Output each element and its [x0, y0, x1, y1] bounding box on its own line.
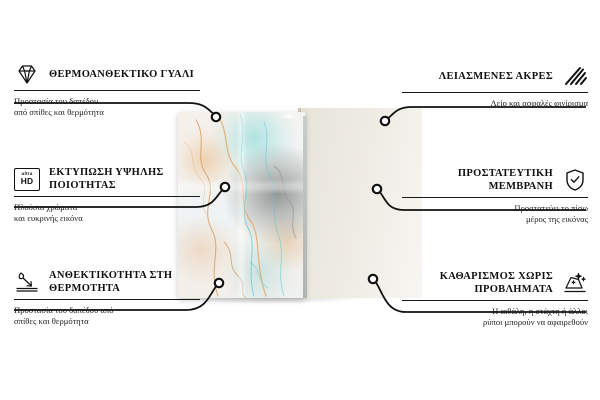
feature-easy-cleaning: ΚΑΘΑΡΙΣΜΟΣ ΧΩΡΙΣ ΠΡΟΒΛΗΜΑΤΑ Η αιθάλη, η …: [402, 270, 588, 328]
feature-header: ΑΝΘΕΚΤΙΚΟΤΗΤΑ ΣΤΗ ΘΕΡΜΟΤΗΤΑ: [14, 269, 200, 295]
feature-title: ΠΡΟΣΤΑΤΕΥΤΙΚΗ ΜΕΜΒΡΑΝΗ: [402, 167, 553, 193]
feature-description: Λείο και ασφαλές φινίρισμα: [402, 98, 588, 109]
feature-high-quality-print: ultra HD ΕΚΤΥΠΩΣΗ ΥΨΗΛΗΣ ΠΟΙΟΤΗΤΑΣ Πλούσ…: [14, 166, 200, 224]
feature-rule: [14, 196, 200, 197]
feature-description: Προστασία του δαπέδουαπό σπίθες και θερμ…: [14, 96, 200, 118]
feature-heat-durability: ΑΝΘΕΚΤΙΚΟΤΗΤΑ ΣΤΗ ΘΕΡΜΟΤΗΤΑ Προστασία το…: [14, 269, 200, 327]
ultra-hd-icon: ultra HD: [14, 167, 40, 191]
feature-title: ΕΚΤΥΠΩΣΗ ΥΨΗΛΗΣ ΠΟΙΟΤΗΤΑΣ: [49, 166, 200, 192]
highlight-glare: [274, 108, 304, 118]
feature-header: ΘΕΡΜΟΑΝΘΕΚΤΙΚΟ ΓΥΑΛΙ: [14, 62, 200, 86]
flame-on-surface-icon: [14, 270, 40, 294]
polished-edges-icon: [562, 64, 588, 88]
feature-rule: [14, 299, 200, 300]
shield-check-icon: [562, 168, 588, 192]
feature-header: ΠΡΟΣΤΑΤΕΥΤΙΚΗ ΜΕΜΒΡΑΝΗ: [402, 167, 588, 193]
sparkle-cloth-icon: [562, 271, 588, 295]
feature-rule: [402, 197, 588, 198]
feature-header: ultra HD ΕΚΤΥΠΩΣΗ ΥΨΗΛΗΣ ΠΟΙΟΤΗΤΑΣ: [14, 166, 200, 192]
feature-description: Προστατεύει το πίσωμέρος της εικόνας: [402, 203, 588, 225]
product-image: [178, 108, 422, 298]
feature-heat-resistant-glass: ΘΕΡΜΟΑΝΘΕΚΤΙΚΟ ΓΥΑΛΙ Προστασία του δαπέδ…: [14, 62, 200, 118]
feature-description: Πλούσια χρώματακαι ευκρινής εικόνα: [14, 202, 200, 224]
feature-title: ΑΝΘΕΚΤΙΚΟΤΗΤΑ ΣΤΗ ΘΕΡΜΟΤΗΤΑ: [49, 269, 200, 295]
feature-rule: [14, 90, 200, 91]
diamond-icon: [14, 62, 40, 86]
feature-polished-edges: ΛΕΙΑΣΜΕΝΕΣ ΑΚΡΕΣ Λείο και ασφαλές φινίρι…: [402, 64, 588, 109]
feature-description: Η αιθάλη, η στάχτη ή άλλοιρύποι μπορούν …: [402, 306, 588, 328]
feature-rule: [402, 300, 588, 301]
feature-title: ΛΕΙΑΣΜΕΝΕΣ ΑΚΡΕΣ: [439, 70, 553, 83]
feature-header: ΚΑΘΑΡΙΣΜΟΣ ΧΩΡΙΣ ΠΡΟΒΛΗΜΑΤΑ: [402, 270, 588, 296]
feature-protective-membrane: ΠΡΟΣΤΑΤΕΥΤΙΚΗ ΜΕΜΒΡΑΝΗ Προστατεύει το πί…: [402, 167, 588, 225]
infographic-stage: ΘΕΡΜΟΑΝΘΕΚΤΙΚΟ ΓΥΑΛΙ Προστασία του δαπέδ…: [0, 0, 600, 400]
feature-header: ΛΕΙΑΣΜΕΝΕΣ ΑΚΡΕΣ: [402, 64, 588, 88]
panel-edge: [303, 116, 307, 298]
feature-title: ΚΑΘΑΡΙΣΜΟΣ ΧΩΡΙΣ ΠΡΟΒΛΗΜΑΤΑ: [402, 270, 553, 296]
ultra-hd-bottom-label: HD: [21, 177, 34, 185]
feature-rule: [402, 92, 588, 93]
feature-title: ΘΕΡΜΟΑΝΘΕΚΤΙΚΟ ΓΥΑΛΙ: [49, 68, 194, 81]
feature-description: Προστασία του δαπέδου απόσπίθες και θερμ…: [14, 305, 200, 327]
